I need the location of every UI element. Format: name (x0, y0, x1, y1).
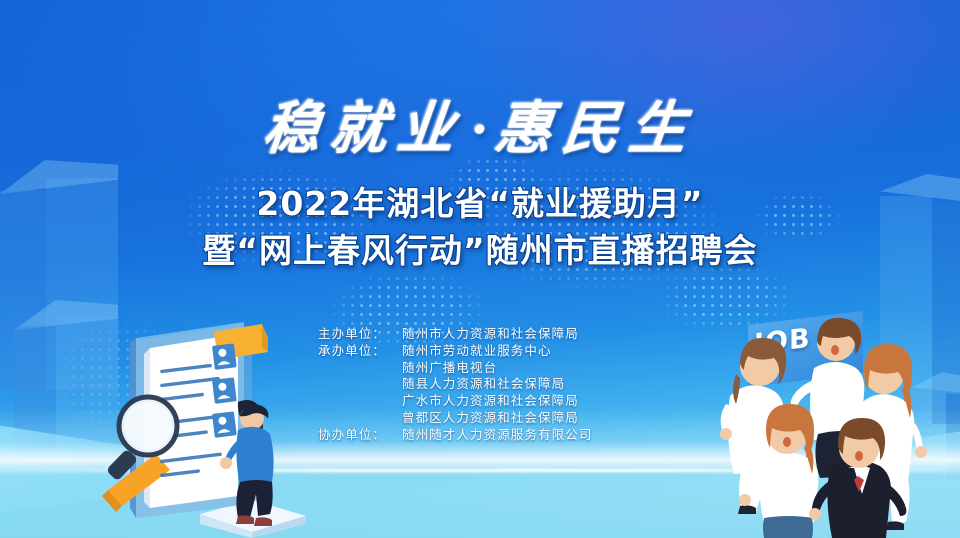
credit-value: 随州市人力资源和社会保障局 (402, 326, 579, 343)
credit-value: 随州市劳动就业服务中心 (402, 343, 552, 360)
credit-row: 主办单位： 随州市人力资源和社会保障局 (318, 326, 592, 343)
person-card-icon-3 (212, 411, 237, 438)
credit-value: 随州广播电视台 (402, 360, 497, 377)
calligraphy-title-right: 惠民生 (492, 98, 700, 161)
credit-row: 承办单位： 随州广播电视台 (318, 360, 592, 377)
credit-row: 承办单位： 随州市劳动就业服务中心 (318, 343, 592, 360)
credit-value: 随州随才人力资源服务有限公司 (402, 427, 592, 444)
organizer-credits: 主办单位： 随州市人力资源和社会保障局 承办单位： 随州市劳动就业服务中心 承办… (318, 326, 592, 444)
job-seekers-svg (718, 300, 960, 538)
credit-label: 协办单位： (318, 427, 402, 444)
credit-label: 承办单位： (318, 343, 402, 360)
resume-review-illustration (92, 318, 322, 538)
credit-row: 承办单位： 广水市人力资源和社会保障局 (318, 393, 592, 410)
credit-value: 广水市人力资源和社会保障局 (402, 393, 579, 410)
event-subtitle-line-1: 2022年湖北省“就业援助月” (0, 181, 960, 228)
credit-label: 主办单位： (318, 326, 402, 343)
job-seekers-illustration: JOB (718, 300, 960, 538)
event-subtitle-line-2: 暨“网上春风行动”随州市直播招聘会 (0, 228, 960, 275)
title-block: 稳就业·惠民生 2022年湖北省“就业援助月” 暨“网上春风行动”随州市直播招聘… (0, 96, 960, 275)
person-card-icon-1 (212, 343, 237, 370)
person-card-icon-2 (212, 377, 237, 404)
calligraphy-title: 稳就业·惠民生 (260, 96, 700, 163)
event-subtitle: 2022年湖北省“就业援助月” 暨“网上春风行动”随州市直播招聘会 (0, 181, 960, 275)
credit-row: 承办单位： 曾都区人力资源和社会保障局 (318, 410, 592, 427)
poster-canvas: 稳就业·惠民生 2022年湖北省“就业援助月” 暨“网上春风行动”随州市直播招聘… (0, 0, 960, 538)
credit-value: 曾都区人力资源和社会保障局 (402, 410, 579, 427)
credit-row: 协办单位： 随州随才人力资源服务有限公司 (318, 427, 592, 444)
credit-row: 承办单位： 随县人力资源和社会保障局 (318, 376, 592, 393)
resume-review-svg (92, 318, 322, 538)
credit-value: 随县人力资源和社会保障局 (402, 376, 565, 393)
calligraphy-title-left: 稳就业 (260, 98, 468, 161)
